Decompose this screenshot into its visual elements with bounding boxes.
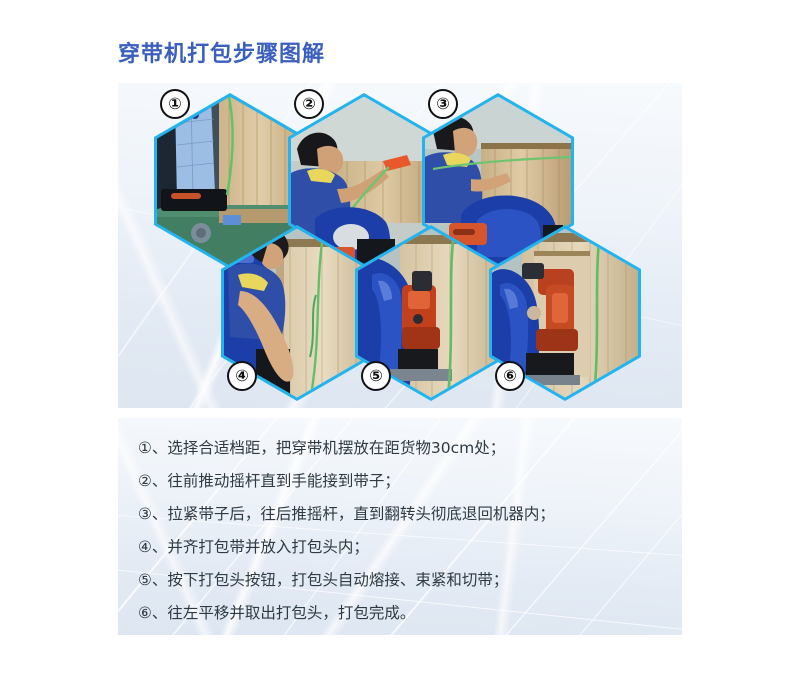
step-badge-4: ④ [227,361,257,391]
instruction-step: ③、拉紧带子后，往后推摇杆，直到翻转头彻底退回机器内； [138,502,555,524]
instruction-step: ④、并齐打包带并放入打包头内； [138,535,369,557]
step-badge-6: ⑥ [495,361,525,391]
step-badge-2: ② [294,89,324,119]
step-badge-1: ① [160,89,190,119]
hexagon-photo-grid: ① ② ③ ④ ⑤ ⑥ [118,83,682,408]
instruction-list: ①、选择合适档距，把穿带机摆放在距货物30cm处； ②、往前推动摇杆直到手能接到… [118,418,682,635]
page-title: 穿带机打包步骤图解 [118,36,325,68]
step-badge-5: ⑤ [361,361,391,391]
instruction-step: ②、往前推动摇杆直到手能接到带子； [138,469,400,491]
instructions-panel: ①、选择合适档距，把穿带机摆放在距货物30cm处； ②、往前推动摇杆直到手能接到… [118,418,682,635]
instruction-step: ⑤、按下打包头按钮，打包头自动熔接、束紧和切带； [138,568,508,590]
product-detail-page: 穿带机打包步骤图解 [0,0,800,684]
step-badge-3: ③ [428,89,458,119]
instruction-step: ⑥、往左平移并取出打包头，打包完成。 [138,601,415,623]
instruction-step: ①、选择合适档距，把穿带机摆放在距货物30cm处； [138,436,505,458]
